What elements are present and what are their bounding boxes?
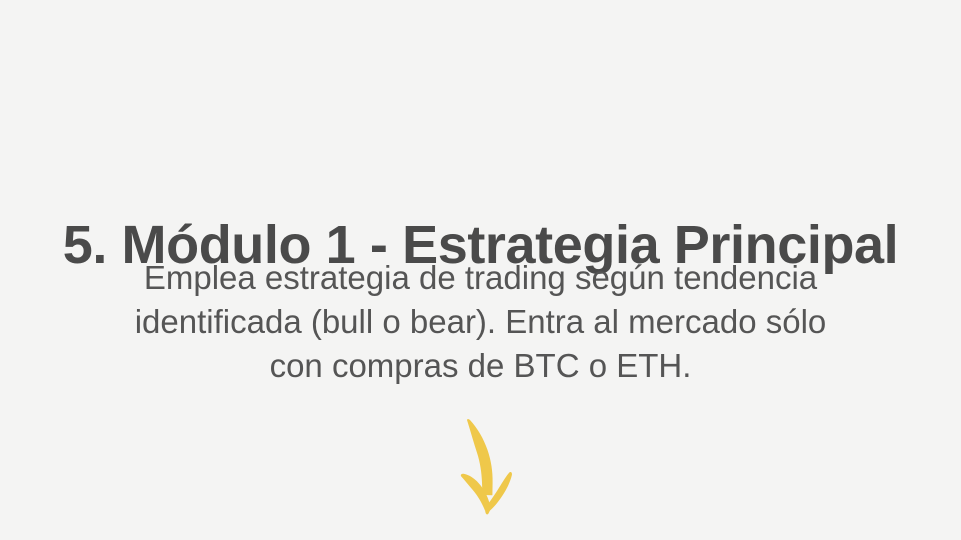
body-line: identificada (bull o bear). Entra al mer… (81, 300, 881, 344)
slide-body-text: Emplea estrategia de trading según tende… (81, 256, 881, 388)
slide-canvas: 5. Módulo 1 - Estrategia Principal Emple… (0, 0, 961, 540)
arrow-down-hand-drawn-glyph (461, 419, 512, 514)
body-line: Emplea estrategia de trading según tende… (81, 256, 881, 300)
body-line: con compras de BTC o ETH. (81, 344, 881, 388)
arrow-down-icon (452, 412, 522, 522)
